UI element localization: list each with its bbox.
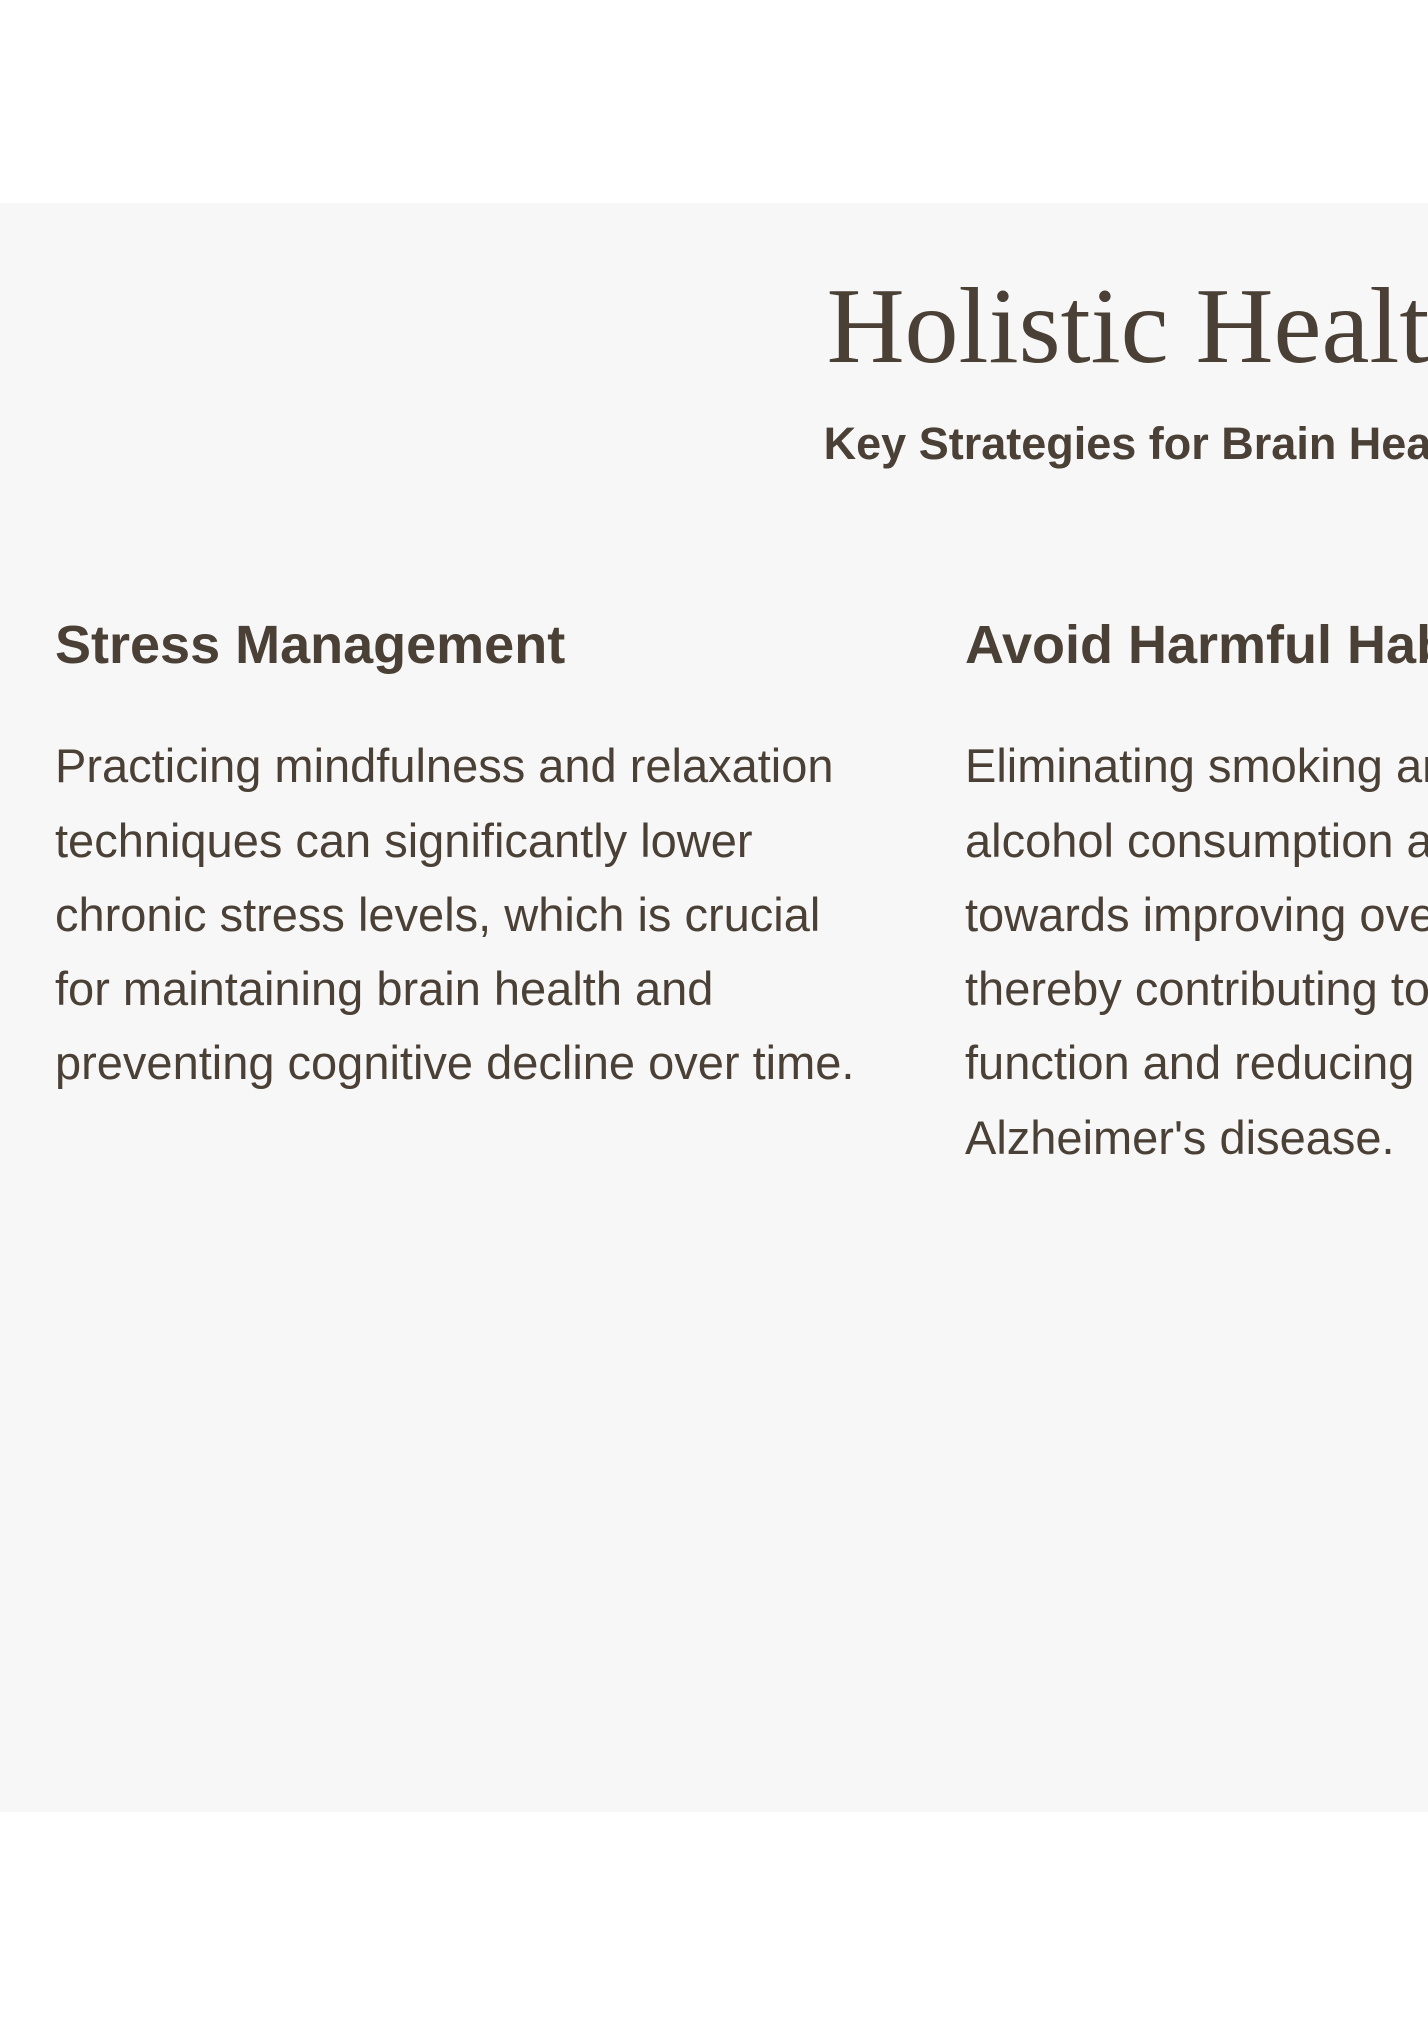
column-body-text: Practicing mindfulness and relaxation te… bbox=[55, 729, 858, 1100]
document-header: Holistic Health Key Strategies for Brain… bbox=[55, 203, 1428, 473]
column-heading: Avoid Harmful Habits bbox=[965, 613, 1428, 678]
column-container: Stress Management Practicing mindfulness… bbox=[55, 613, 1428, 1175]
content-panel: Holistic Health Key Strategies for Brain… bbox=[0, 203, 1428, 1812]
column-avoid-harmful-habits: Avoid Harmful Habits Eliminating smoking… bbox=[965, 613, 1428, 1175]
document-body: Holistic Health Key Strategies for Brain… bbox=[0, 203, 1428, 1812]
column-body-text: Eliminating smoking and moderating alcoh… bbox=[965, 729, 1428, 1175]
column-stress-management: Stress Management Practicing mindfulness… bbox=[55, 613, 858, 1175]
column-heading: Stress Management bbox=[55, 613, 858, 678]
page-title: Holistic Health bbox=[55, 263, 1428, 390]
page-subtitle: Key Strategies for Brain Health bbox=[55, 416, 1428, 472]
page-viewport: Holistic Health Key Strategies for Brain… bbox=[0, 0, 1428, 2018]
